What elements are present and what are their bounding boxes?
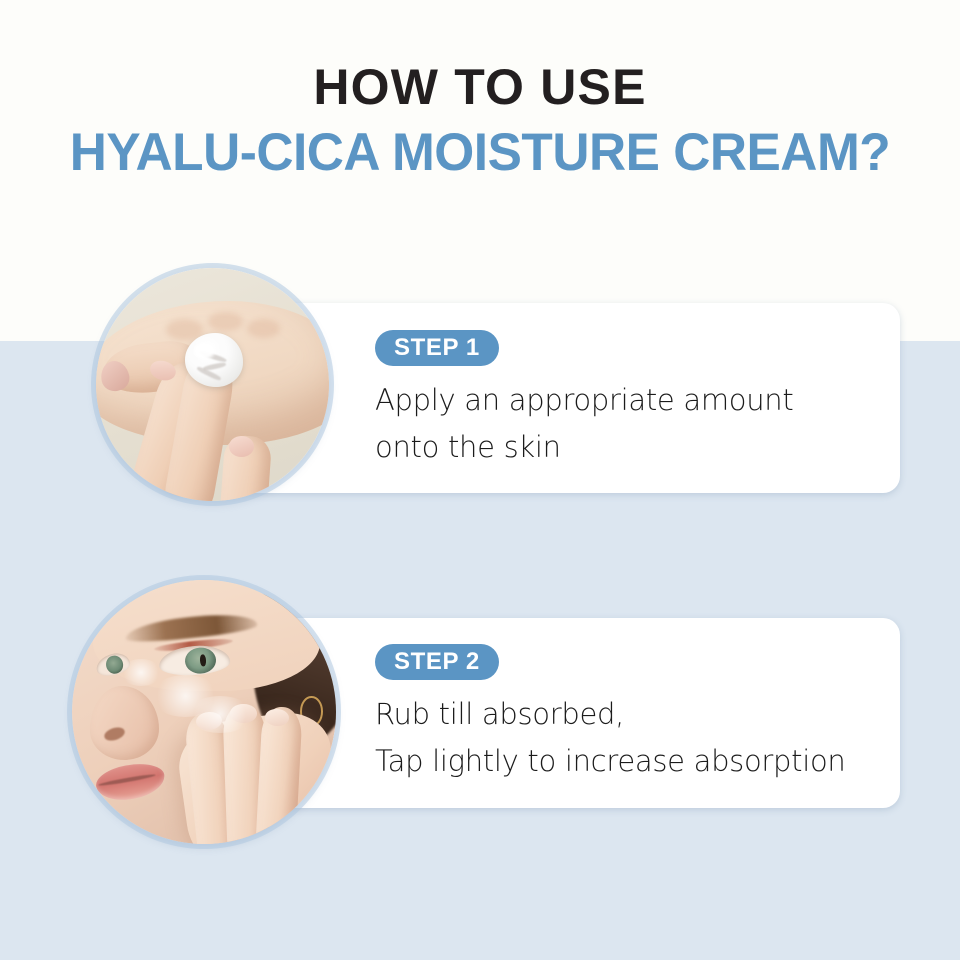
woman-applying-cream-photo — [72, 580, 336, 844]
hand-illustration — [96, 268, 329, 501]
skin-glow-2 — [188, 696, 251, 733]
skin-glow-3 — [120, 659, 162, 685]
step-1-description: Apply an appropriate amount onto the ski… — [375, 377, 882, 471]
page-title: HOW TO USE — [0, 58, 960, 116]
finger-lower-nail — [229, 436, 255, 457]
status-badge-step-1: STEP 1 — [375, 330, 499, 366]
step-row-2: STEP 2 Rub till absorbed, Tap lightly to… — [0, 580, 960, 848]
nose-shape — [90, 686, 159, 760]
step-2-line-2: Tap lightly to increase absorption — [375, 738, 882, 785]
cream-highlight — [194, 343, 215, 359]
status-badge-step-2: STEP 2 — [375, 644, 499, 680]
applying-finger-3 — [256, 706, 303, 844]
hand-with-cream-photo — [96, 268, 329, 501]
face-illustration — [72, 580, 336, 844]
knuckle-shade-3 — [247, 319, 280, 338]
how-to-use-poster: HOW TO USE HYALU-CICA MOISTURE CREAM? ST… — [0, 0, 960, 960]
step-card-2-body: STEP 2 Rub till absorbed, Tap lightly to… — [375, 644, 882, 785]
step-2-description: Rub till absorbed, Tap lightly to increa… — [375, 691, 882, 785]
step-2-line-1: Rub till absorbed, — [375, 691, 882, 738]
step-row-1: STEP 1 Apply an appropriate amount onto … — [0, 268, 960, 508]
knuckle-shade-2 — [208, 312, 243, 331]
step-1-line-2: onto the skin — [375, 424, 882, 471]
pupil — [200, 654, 206, 666]
step-card-1-body: STEP 1 Apply an appropriate amount onto … — [375, 330, 882, 471]
page-subtitle: HYALU-CICA MOISTURE CREAM? — [14, 122, 945, 184]
step-1-line-1: Apply an appropriate amount — [375, 377, 882, 424]
page-heading: HOW TO USE HYALU-CICA MOISTURE CREAM? — [0, 58, 960, 184]
iris — [184, 646, 217, 674]
